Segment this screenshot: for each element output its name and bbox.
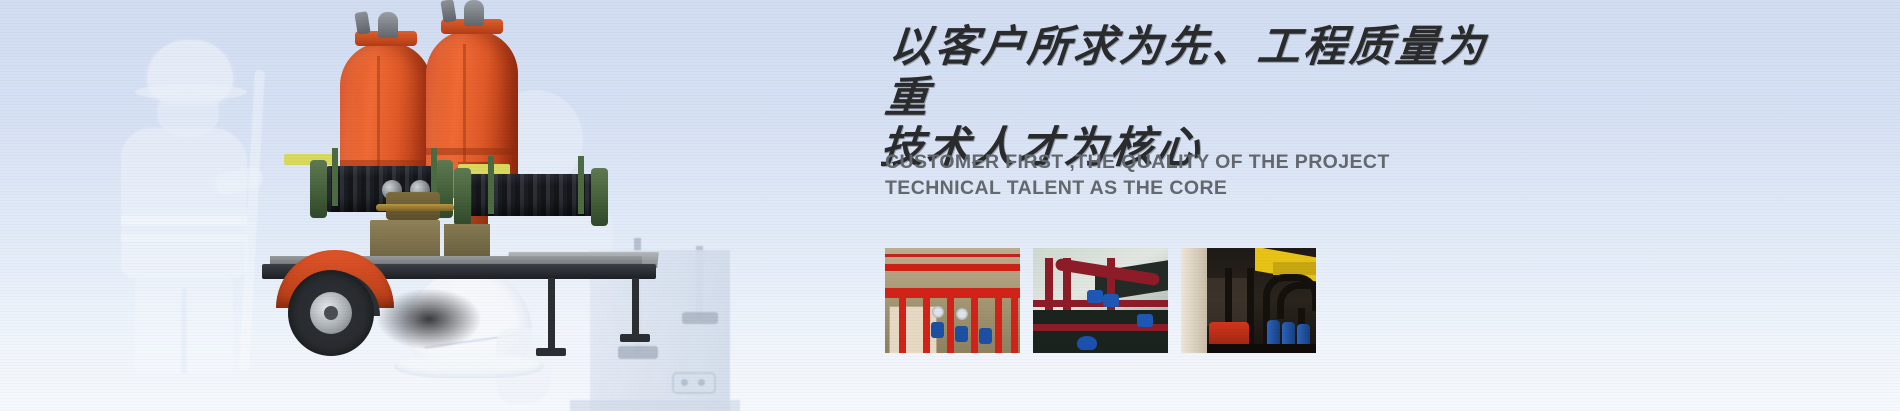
thumbnail-boiler-pump-room[interactable] [1181, 248, 1316, 353]
watermark-head-shape [157, 92, 219, 138]
blue-valve-icon [1103, 294, 1119, 307]
fire-protection-hero-banner: 以客户所求为先、工程质量为重 技术人才为核心 CUSTOMER FIRST ,T… [0, 0, 1900, 411]
brass-pipe [376, 204, 454, 211]
project-thumbnail-strip [885, 248, 1316, 353]
reel-flange [310, 160, 327, 218]
blue-valve-icon [1087, 290, 1103, 303]
blue-valve-icon [979, 328, 992, 344]
blue-valve-icon [1137, 314, 1153, 327]
watermark-helmet-shape [147, 40, 233, 104]
watermark-reflective-stripe-lower [121, 234, 247, 241]
tank-valve-icon [440, 0, 456, 23]
reel-flange [454, 168, 471, 226]
vertical-riser [899, 296, 906, 353]
slogan-subtitle-english: CUSTOMER FIRST ,THE QUALITY OF THE PROJE… [885, 150, 1505, 202]
support-post [488, 156, 494, 214]
firefighter-with-pole-watermark [95, 40, 270, 370]
support-post [332, 148, 338, 206]
support-post [578, 156, 584, 214]
tank-strap [426, 148, 518, 155]
watermark-coat-shape [121, 128, 247, 278]
tank-relief-valve-icon [464, 0, 484, 26]
pressure-gauge-icon [956, 308, 968, 320]
watermark-cabinet-base [570, 400, 740, 411]
mobile-fire-fighting-trailer-unit [258, 12, 658, 312]
watermark-legs-shape [135, 274, 233, 374]
gate-valve-handwheel-icon [1077, 336, 1097, 350]
watermark-latch [672, 372, 716, 394]
stabilizer-foot [536, 348, 566, 356]
watermark-knob-secondary [682, 312, 718, 324]
watermark-helmet-brim [394, 354, 544, 378]
thumbnail-sprinkler-manifold-room[interactable] [885, 248, 1020, 353]
vertical-riser [995, 296, 1002, 353]
watermark-face-shape [496, 328, 552, 404]
watermark-shaft-secondary [696, 246, 703, 320]
trailer-wheel [288, 270, 374, 356]
blue-valve-icon [955, 326, 968, 342]
horizontal-pipe-upper [885, 264, 1020, 271]
black-pipe-bend [1277, 282, 1316, 319]
watermark-reflective-stripe-upper [121, 216, 247, 225]
vertical-riser [947, 296, 954, 353]
blue-valve-icon [931, 322, 944, 338]
reel-flange [591, 168, 608, 226]
tank-relief-valve-icon [378, 12, 398, 38]
watermark-knob-primary [618, 346, 658, 359]
ceiling-rail [885, 254, 1020, 257]
thumbnail-stairwell-fire-riser[interactable] [1033, 248, 1168, 353]
stabilizer-leg [548, 278, 555, 352]
watermark-leg-split [181, 288, 187, 374]
wheel-shadow [376, 288, 482, 350]
pressure-gauge-icon [932, 306, 944, 318]
vertical-riser [971, 296, 978, 353]
white-pillar [1181, 248, 1207, 353]
banner-text-column: 以客户所求为先、工程质量为重 技术人才为核心 CUSTOMER FIRST ,T… [885, 0, 1505, 411]
stabilizer-foot [620, 334, 650, 342]
stabilizer-leg [632, 278, 639, 340]
tank-valve-icon [354, 11, 370, 35]
vertical-riser [923, 296, 930, 353]
vertical-riser [1011, 296, 1018, 353]
